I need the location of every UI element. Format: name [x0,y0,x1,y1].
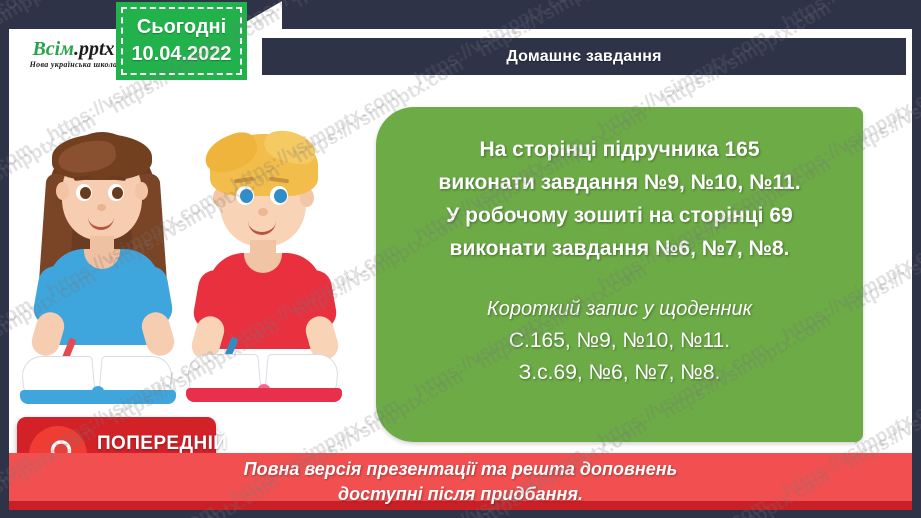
diary-note-line: З.с.69, №6, №7, №8. [519,357,721,389]
girl-arm-right [138,309,177,359]
girl-nose [97,204,106,211]
slide-header-bar: Домашнє завдання [262,38,906,75]
logo-brand-prefix: Всім [32,38,73,60]
today-date: 10.04.2022 [131,41,231,68]
book-cover [20,390,176,404]
slide-right-border [912,0,921,518]
logo-wordmark: Всім.pptx [32,39,114,59]
slide-bottom-border [0,510,921,518]
boy-nose [258,208,268,216]
blue-open-book [22,356,174,408]
children-illustration [20,112,365,412]
today-label: Сьогодні [137,14,226,41]
diary-note-line: С.165, №9, №10, №11. [509,325,730,357]
slide-left-border [0,0,9,518]
task-line: виконати завдання №6, №7, №8. [450,232,790,265]
task-line: виконати завдання №9, №10, №11. [438,166,800,199]
homework-content-box: На сторінці підручника 165 виконати завд… [376,107,863,442]
page-title: Домашнє завдання [506,48,661,66]
girl-pupil-right [112,187,123,199]
boy-pupil-right [274,189,287,203]
purchase-notice-line1: Повна версія презентації та решта доповн… [244,457,678,482]
diary-note-heading: Короткий запис у щоденник [487,293,752,325]
today-date-badge: Сьогодні 10.04.2022 [116,2,247,80]
book-cover [186,388,342,402]
logo-brand-ext: pptx [79,38,115,60]
girl-pupil-left [80,187,91,199]
girl-ear-left [56,182,69,200]
task-line: У робочому зошиті на сторінці 69 [446,199,792,232]
girl-ear-right [135,182,148,200]
boy-pupil-left [240,189,253,203]
red-open-book [188,354,340,406]
purchase-notice-line2: доступні після придбання. [338,482,583,507]
purchase-notice-banner: Повна версія презентації та решта доповн… [9,453,912,510]
presentation-slide: Всім.pptx Нова українська школа Сьогодні… [0,0,921,518]
preview-badge-line1: ПОПЕРЕДНІЙ [97,433,227,455]
logo-tagline: Нова українська школа [30,60,118,69]
task-line: На сторінці підручника 165 [479,133,759,166]
